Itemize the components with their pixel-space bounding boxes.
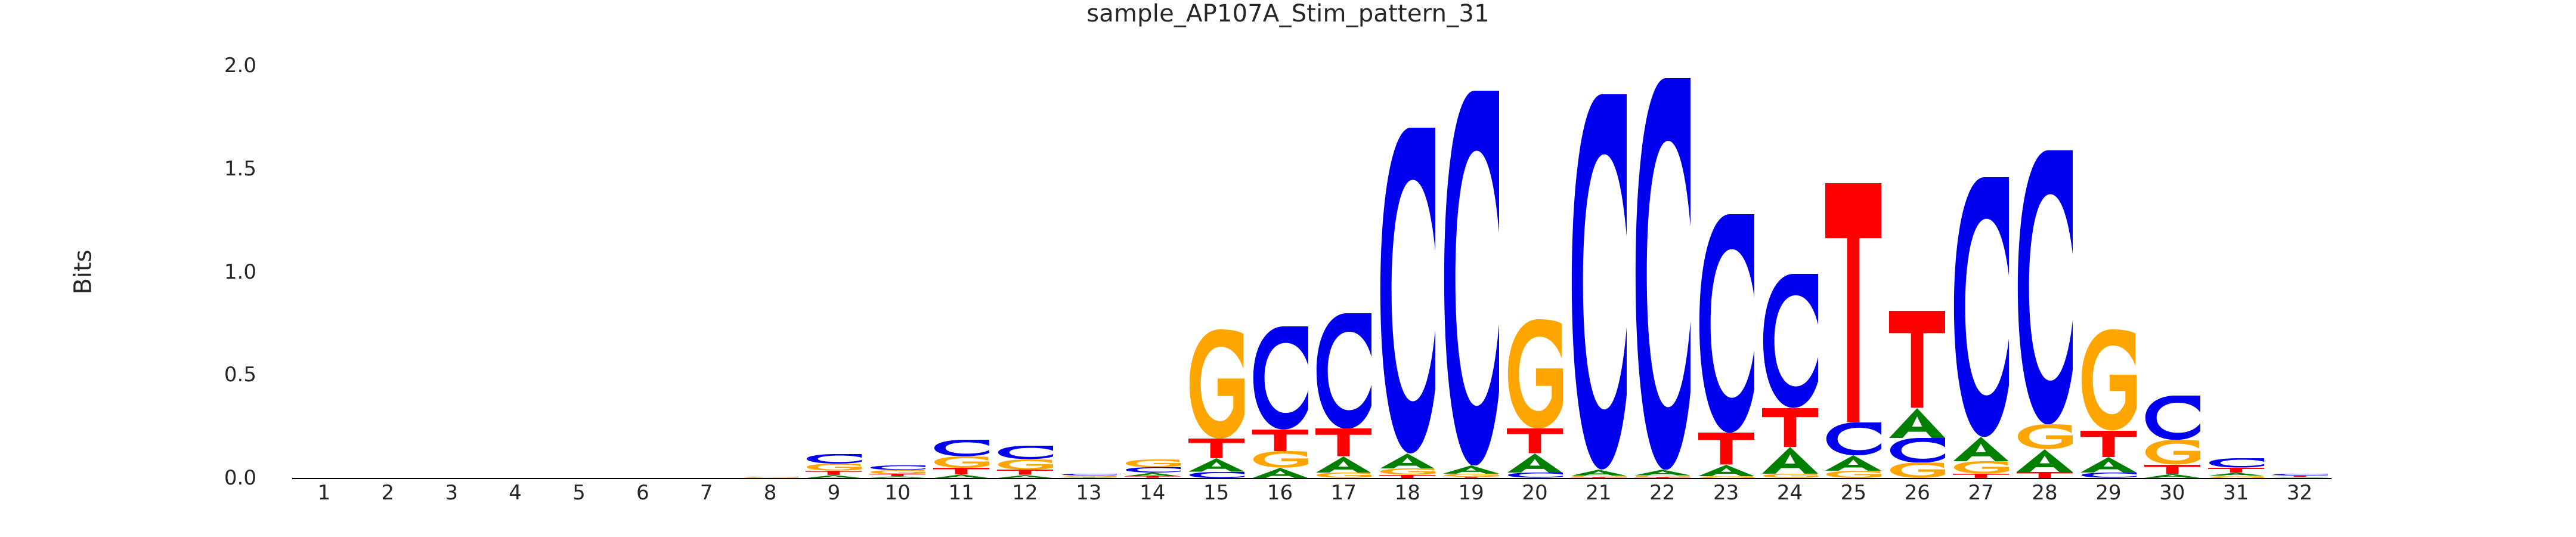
logo-letter-t [1379, 475, 1435, 478]
logo-letter-a [2272, 477, 2328, 478]
logo-letter-g [1825, 471, 1881, 478]
logo-letter-t [1889, 311, 1945, 408]
logo-stack [296, 66, 352, 478]
logo-letter-a [869, 476, 925, 478]
x-axis-tick-label: 16 [1267, 481, 1293, 505]
logo-stack [1315, 66, 1371, 478]
logo-letter-t [2080, 431, 2137, 458]
x-axis-tick-label: 3 [445, 481, 458, 505]
logo-letter-c [1379, 128, 1435, 453]
logo-letter-a [997, 475, 1053, 478]
x-axis-tick-label: 20 [1522, 481, 1547, 505]
logo-letter-g [742, 477, 798, 478]
logo-letter-c [1315, 313, 1371, 428]
logo-letter-a [1443, 465, 1499, 474]
logo-letter-g [1507, 319, 1563, 428]
logo-stack [1698, 66, 1754, 478]
logo-letter-a [1762, 447, 1818, 474]
logo-letter-g [1698, 476, 1754, 478]
x-axis-line [292, 478, 2332, 479]
logo-stack [1953, 66, 2009, 478]
logo-letter-c [1634, 78, 1690, 470]
x-axis-tick-label: 4 [509, 481, 522, 505]
x-axis-tick-label: 18 [1395, 481, 1420, 505]
y-axis-tick-label: 0.5 [224, 363, 256, 387]
x-axis-tick-label: 27 [1968, 481, 1994, 505]
logo-letter-a [2080, 457, 2137, 473]
logo-letter-g [1379, 468, 1435, 474]
logo-stack [933, 66, 989, 478]
logo-letter-g [1315, 473, 1371, 478]
logo-letter-g [1889, 462, 1945, 478]
logo-letter-g [1252, 451, 1308, 468]
logo-stack [487, 66, 543, 478]
x-axis: 1234567891011121314151617181920212223242… [292, 481, 2332, 517]
logo-letter-t [2144, 465, 2200, 474]
logo-letter-g [1125, 459, 1181, 467]
logo-letter-a [1634, 470, 1690, 476]
logo-letter-t [1252, 430, 1308, 451]
logo-stack [806, 66, 862, 478]
logo-letter-a [1252, 468, 1308, 478]
x-axis-tick-label: 2 [381, 481, 394, 505]
logo-stack [551, 66, 607, 478]
logo-stack [615, 66, 671, 478]
logo-letter-a [1889, 408, 1945, 438]
logo-letter-a [933, 474, 989, 478]
logo-stack [869, 66, 925, 478]
logo-letter-c [869, 465, 925, 470]
y-axis-tick-label: 1.5 [224, 157, 256, 181]
logo-letter-a [1061, 477, 1117, 478]
logo-letter-c [1443, 91, 1499, 466]
y-axis-tick-label: 0.0 [224, 466, 256, 490]
sequence-logo-figure: sample_AP107A_Stim_pattern_31 Bits 0.00.… [0, 0, 2576, 537]
x-axis-tick-label: 1 [318, 481, 331, 505]
logo-letter-c [1188, 472, 1244, 478]
x-axis-tick-label: 26 [1905, 481, 1930, 505]
logo-letter-t [1125, 476, 1181, 478]
x-axis-tick-label: 32 [2287, 481, 2312, 505]
x-axis-tick-label: 13 [1076, 481, 1101, 505]
x-axis-tick-label: 23 [1713, 481, 1739, 505]
logo-letter-g [2080, 329, 2137, 430]
logo-letter-t [2208, 468, 2264, 473]
logo-stack [1825, 66, 1881, 478]
logo-stack [997, 66, 1053, 478]
logo-stack [1188, 66, 1244, 478]
logo-letter-c [1698, 214, 1754, 433]
logo-letter-t [1634, 477, 1690, 478]
x-axis-tick-label: 11 [949, 481, 974, 505]
x-axis-tick-label: 29 [2095, 481, 2121, 505]
logo-letter-t [1315, 428, 1371, 456]
logo-letter-c [806, 454, 862, 464]
logo-letter-a [1825, 455, 1881, 471]
logo-letter-t [1698, 433, 1754, 465]
logo-letter-a [1507, 453, 1563, 473]
x-axis-tick-label: 5 [572, 481, 586, 505]
x-axis-tick-label: 30 [2159, 481, 2185, 505]
logo-letter-a [1698, 465, 1754, 476]
logo-stack [423, 66, 479, 478]
logo-letter-t [1571, 477, 1627, 478]
logo-letter-c [2080, 473, 2137, 478]
logo-stack [2017, 66, 2073, 478]
logo-letter-t [1188, 439, 1244, 458]
logo-stack [1125, 66, 1181, 478]
logo-letter-g [1953, 461, 2009, 474]
x-axis-tick-label: 6 [636, 481, 649, 505]
x-axis-tick-label: 15 [1203, 481, 1229, 505]
logo-stack [2080, 66, 2137, 478]
logo-letter-c [1252, 326, 1308, 430]
logo-letter-g [933, 456, 989, 468]
logo-letter-t [806, 471, 862, 475]
logo-stack [1634, 66, 1690, 478]
logo-letter-t [997, 470, 1053, 475]
x-axis-tick-label: 17 [1331, 481, 1357, 505]
y-axis-tick-label: 2.0 [224, 54, 256, 78]
logo-letter-t [1443, 477, 1499, 478]
x-axis-tick-label: 19 [1459, 481, 1484, 505]
logo-stack [2144, 66, 2200, 478]
logo-letter-c [2208, 458, 2264, 468]
logo-letter-a [1315, 456, 1371, 473]
x-axis-tick-label: 12 [1012, 481, 1038, 505]
logo-letter-t [1825, 183, 1881, 422]
logo-stack [1571, 66, 1627, 478]
page-title: sample_AP107A_Stim_pattern_31 [0, 0, 2576, 27]
x-axis-tick-label: 9 [828, 481, 841, 505]
logo-letter-a [2017, 449, 2073, 472]
logo-letter-c [997, 446, 1053, 459]
logo-letter-t [1953, 474, 2009, 478]
logo-letter-t [1507, 428, 1563, 453]
logo-letter-c [1762, 274, 1818, 408]
logo-letter-t [2017, 472, 2073, 478]
logo-letter-a [1379, 453, 1435, 469]
x-axis-tick-label: 10 [885, 481, 911, 505]
logo-stack [1252, 66, 1308, 478]
logo-letter-t [1762, 408, 1818, 447]
logo-stack [742, 66, 798, 478]
chart-title: sample_AP107A_Stim_pattern_31 [1086, 0, 1489, 27]
y-axis: 0.00.51.01.52.0 [0, 66, 292, 478]
logo-letter-g [806, 464, 862, 471]
logo-letter-g [2208, 476, 2264, 478]
logo-stack [1889, 66, 1945, 478]
x-axis-tick-label: 7 [700, 481, 713, 505]
logo-letter-c [933, 440, 989, 456]
x-axis-tick-label: 25 [1841, 481, 1866, 505]
logo-stack [2272, 66, 2328, 478]
logo-letter-g [997, 459, 1053, 470]
x-axis-tick-label: 22 [1649, 481, 1675, 505]
x-axis-tick-label: 28 [2032, 481, 2057, 505]
plot-area [292, 66, 2332, 478]
logo-stack [360, 66, 416, 478]
logo-letter-a [1571, 470, 1627, 476]
logo-letter-a [1188, 458, 1244, 471]
x-axis-tick-label: 8 [764, 481, 777, 505]
logo-letter-c [2017, 150, 2073, 425]
logo-letter-a [806, 475, 862, 478]
x-axis-tick-label: 24 [1777, 481, 1803, 505]
logo-letter-a [2144, 474, 2200, 478]
logo-letter-a [1953, 437, 2009, 461]
logo-letter-c [1507, 473, 1563, 478]
x-axis-tick-label: 14 [1140, 481, 1165, 505]
logo-stack [1379, 66, 1435, 478]
logo-stack [2208, 66, 2264, 478]
logo-letter-g [2144, 440, 2200, 464]
logo-letter-g [2017, 424, 2073, 449]
logo-letter-c [1889, 438, 1945, 462]
logo-letter-g [1188, 329, 1244, 439]
logo-letter-c [1953, 177, 2009, 437]
y-axis-tick-label: 1.0 [224, 260, 256, 284]
x-axis-tick-label: 21 [1586, 481, 1611, 505]
logo-letter-c [2144, 396, 2200, 440]
logo-letter-g [1762, 474, 1818, 478]
logo-letter-c [1825, 422, 1881, 455]
logo-letter-c [1125, 467, 1181, 473]
logo-letter-c [1571, 94, 1627, 470]
logo-letter-t [933, 468, 989, 474]
logo-stack [1762, 66, 1818, 478]
logo-stack [679, 66, 735, 478]
logo-stack [1443, 66, 1499, 478]
logo-stack [1507, 66, 1563, 478]
x-axis-tick-label: 31 [2223, 481, 2249, 505]
logo-stack [1061, 66, 1117, 478]
